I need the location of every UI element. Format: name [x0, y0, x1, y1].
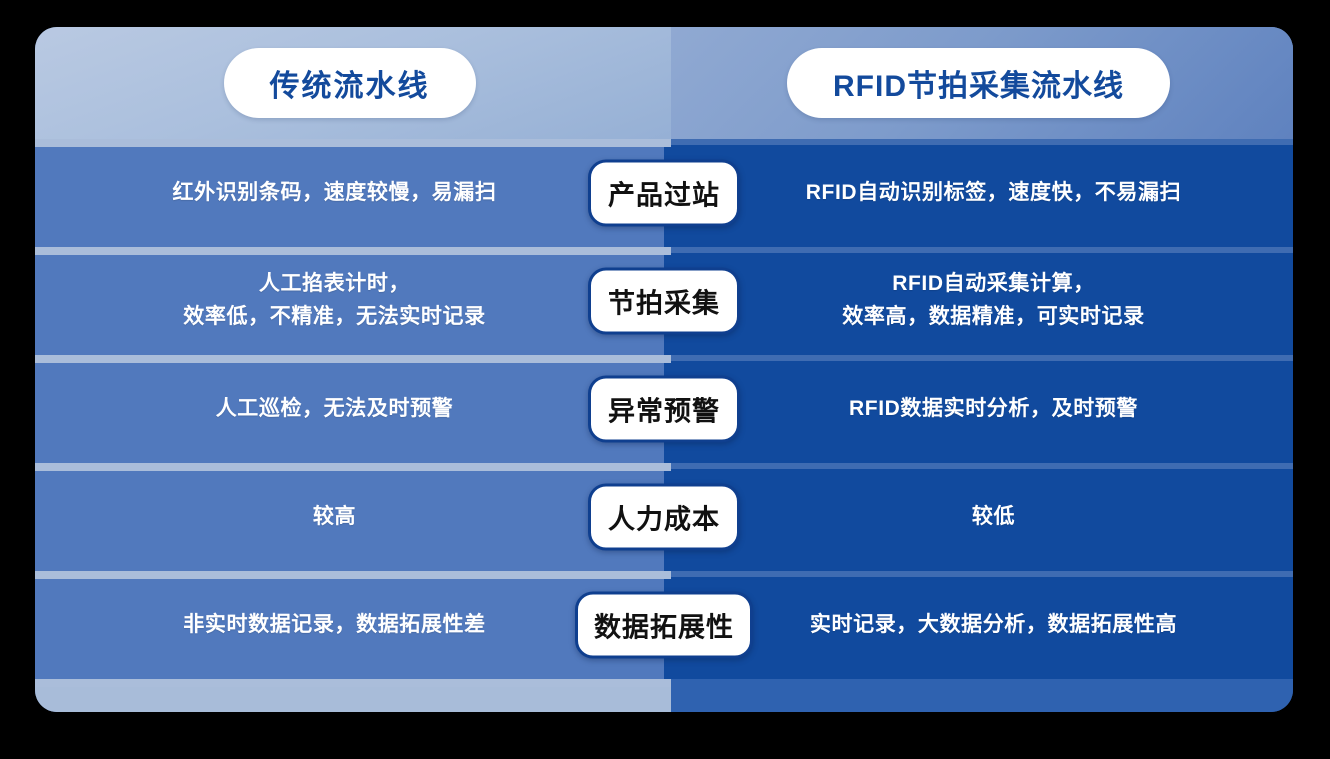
row-separator-left [35, 139, 671, 147]
header-title-rfid: RFID节拍采集流水线 [787, 48, 1170, 118]
row-cell-left: 非实时数据记录，数据拓展性差 [35, 571, 664, 679]
row-separator-left [35, 571, 671, 579]
row-text-line: 效率高，数据精准，可实时记录 [842, 301, 1144, 334]
row-text-line: 人工掐表计时， [183, 268, 485, 301]
row-cell-left: 红外识别条码，速度较慢，易漏扫 [35, 139, 664, 247]
row-separator-left [35, 247, 671, 255]
row-text-line: RFID自动识别标签，速度快，不易漏扫 [806, 177, 1181, 210]
row-text-line: 较高 [313, 501, 356, 534]
row-text-line: 实时记录，大数据分析，数据拓展性高 [810, 609, 1177, 642]
row-text-line: RFID数据实时分析，及时预警 [849, 393, 1138, 426]
table-row: 红外识别条码，速度较慢，易漏扫 RFID自动识别标签，速度快，不易漏扫 产品过站 [35, 139, 1293, 247]
row-text-line: 效率低，不精准，无法实时记录 [183, 301, 485, 334]
row-text-right: RFID自动识别标签，速度快，不易漏扫 [806, 177, 1181, 210]
row-text-line: 较低 [972, 501, 1015, 534]
header-cell-left: 传统流水线 [35, 27, 664, 139]
header-title-traditional: 传统流水线 [224, 48, 476, 118]
footer-strip [35, 679, 1293, 712]
row-separator-left [35, 355, 671, 363]
row-separator-right [671, 463, 1293, 469]
row-text-left: 非实时数据记录，数据拓展性差 [183, 609, 485, 642]
row-label-badge: 节拍采集 [588, 268, 740, 335]
row-separator-left [35, 463, 671, 471]
row-text-line: RFID自动采集计算， [842, 268, 1144, 301]
row-separator-right [671, 247, 1293, 253]
row-cell-left: 人工掐表计时， 效率低，不精准，无法实时记录 [35, 247, 664, 355]
row-text-right: 实时记录，大数据分析，数据拓展性高 [810, 609, 1177, 642]
row-label-badge: 数据拓展性 [575, 592, 753, 659]
row-text-left: 较高 [313, 501, 356, 534]
comparison-infographic: 传统流水线 RFID节拍采集流水线 红外识别条码，速度较慢，易漏扫 RFID自动… [0, 0, 1330, 759]
row-text-left: 红外识别条码，速度较慢，易漏扫 [173, 177, 497, 210]
row-cell-right: 实时记录，大数据分析，数据拓展性高 [664, 571, 1293, 679]
row-text-line: 人工巡检，无法及时预警 [216, 393, 454, 426]
row-label-badge: 异常预警 [588, 376, 740, 443]
row-separator-right [671, 355, 1293, 361]
row-text-right: 较低 [972, 501, 1015, 534]
table-row: 人工掐表计时， 效率低，不精准，无法实时记录 RFID自动采集计算， 效率高，数… [35, 247, 1293, 355]
table-row: 非实时数据记录，数据拓展性差 实时记录，大数据分析，数据拓展性高 数据拓展性 [35, 571, 1293, 679]
row-cell-right: RFID自动识别标签，速度快，不易漏扫 [664, 139, 1293, 247]
row-cell-right: RFID数据实时分析，及时预警 [664, 355, 1293, 463]
row-cell-left: 人工巡检，无法及时预警 [35, 355, 664, 463]
row-text-left: 人工巡检，无法及时预警 [216, 393, 454, 426]
row-separator-right [671, 139, 1293, 145]
row-label-badge: 产品过站 [588, 160, 740, 227]
header-band: 传统流水线 RFID节拍采集流水线 [35, 27, 1293, 139]
footer-right [671, 679, 1293, 712]
table-row: 人工巡检，无法及时预警 RFID数据实时分析，及时预警 异常预警 [35, 355, 1293, 463]
row-text-left: 人工掐表计时， 效率低，不精准，无法实时记录 [183, 268, 485, 333]
header-cell-right: RFID节拍采集流水线 [664, 27, 1293, 139]
row-text-line: 非实时数据记录，数据拓展性差 [183, 609, 485, 642]
comparison-rows: 红外识别条码，速度较慢，易漏扫 RFID自动识别标签，速度快，不易漏扫 产品过站… [35, 139, 1293, 679]
row-text-right: RFID数据实时分析，及时预警 [849, 393, 1138, 426]
footer-divider [35, 679, 671, 687]
row-cell-right: 较低 [664, 463, 1293, 571]
comparison-card: 传统流水线 RFID节拍采集流水线 红外识别条码，速度较慢，易漏扫 RFID自动… [35, 27, 1293, 712]
row-label-badge: 人力成本 [588, 484, 740, 551]
row-separator-right [671, 571, 1293, 577]
row-cell-right: RFID自动采集计算， 效率高，数据精准，可实时记录 [664, 247, 1293, 355]
row-text-right: RFID自动采集计算， 效率高，数据精准，可实时记录 [842, 268, 1144, 333]
table-row: 较高 较低 人力成本 [35, 463, 1293, 571]
row-cell-left: 较高 [35, 463, 664, 571]
row-text-line: 红外识别条码，速度较慢，易漏扫 [173, 177, 497, 210]
